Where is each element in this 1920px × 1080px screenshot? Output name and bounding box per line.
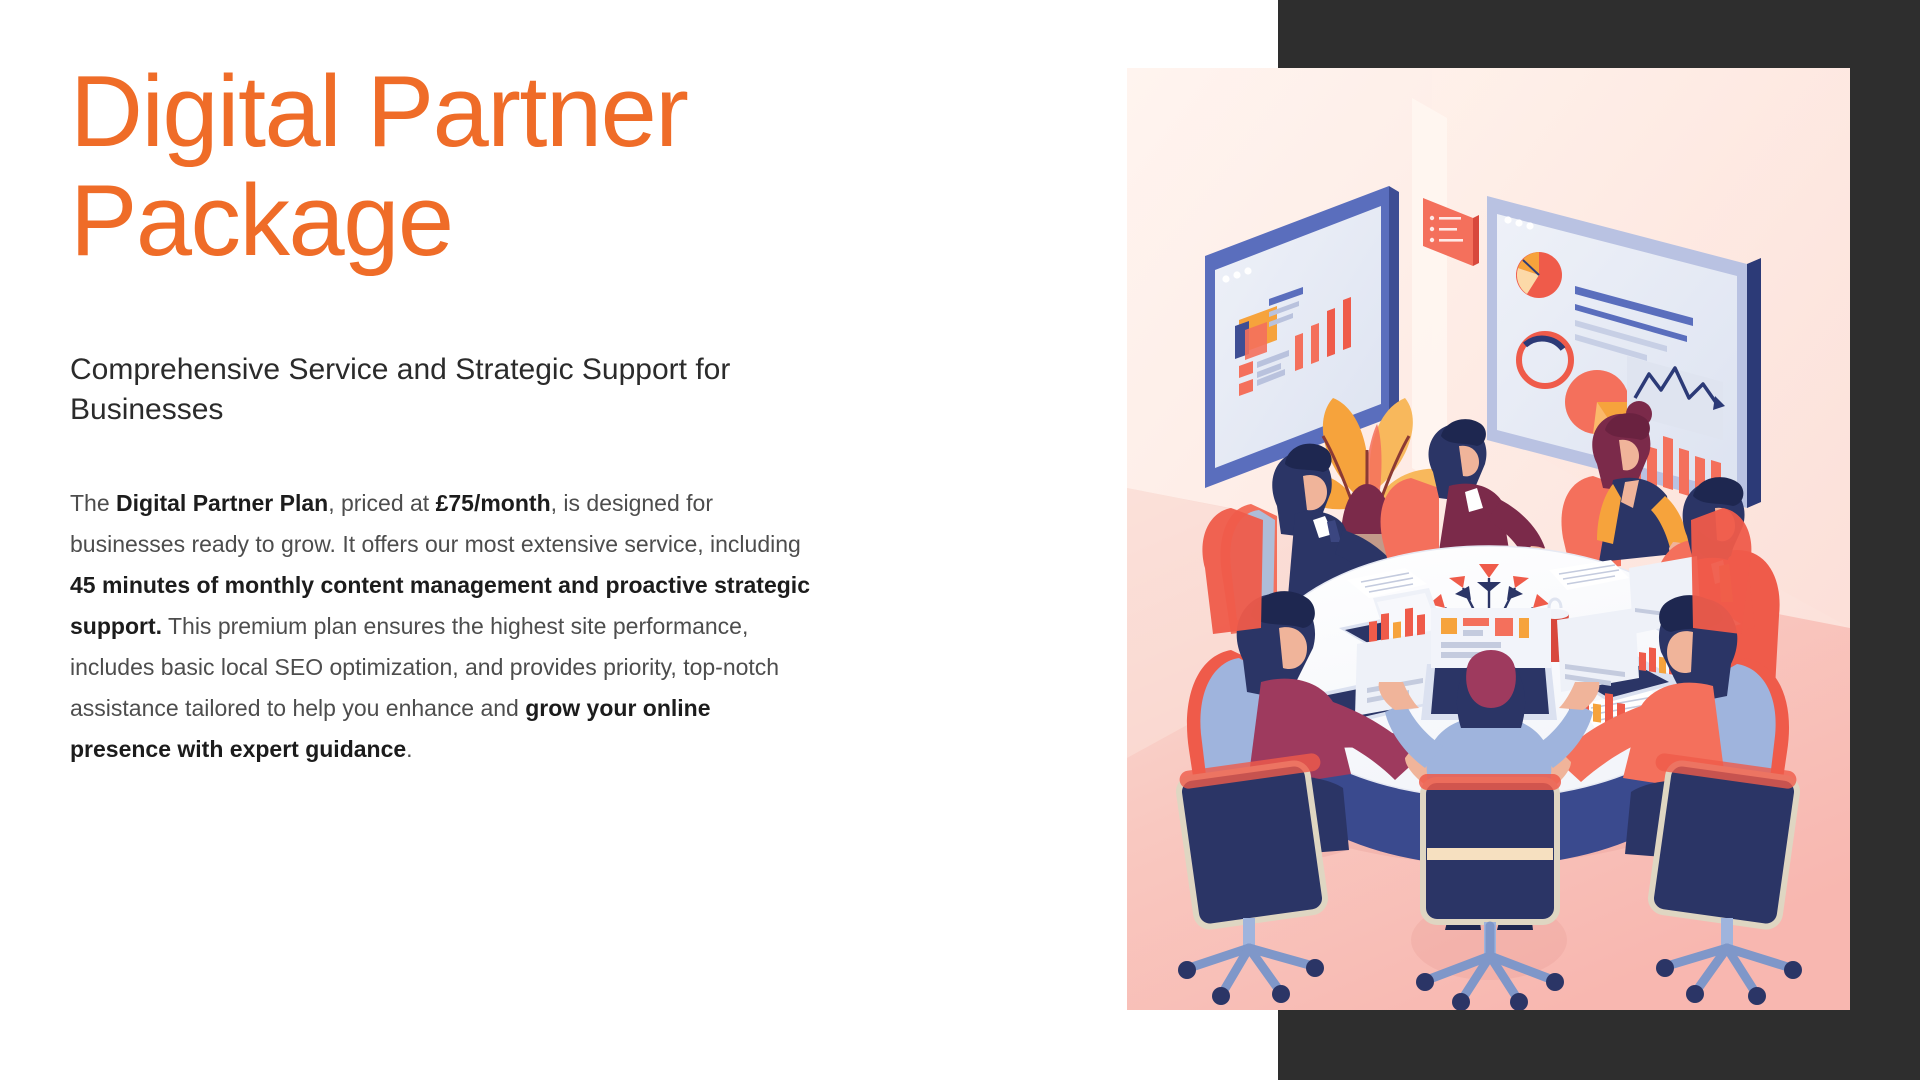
page-subtitle: Comprehensive Service and Strategic Supp… <box>70 350 860 430</box>
chair-back-left <box>1203 508 1263 634</box>
text-column: Digital Partner Package Comprehensive Se… <box>70 0 930 1080</box>
pie-chart-small <box>1516 252 1562 298</box>
body-emphasis: Digital Partner Plan <box>116 490 328 516</box>
isometric-team-meeting-illustration <box>1127 68 1850 1010</box>
body-text: . <box>406 736 412 762</box>
body-paragraph: The Digital Partner Plan, priced at £75/… <box>70 483 810 770</box>
body-text: , priced at <box>328 490 435 516</box>
body-text: The <box>70 490 116 516</box>
slide-root: Digital Partner Package Comprehensive Se… <box>0 0 1920 1080</box>
chair-back-right <box>1691 508 1751 634</box>
page-title: Digital Partner Package <box>70 58 930 276</box>
body-emphasis: £75/month <box>436 490 551 516</box>
illustration-panel <box>1127 68 1850 1010</box>
